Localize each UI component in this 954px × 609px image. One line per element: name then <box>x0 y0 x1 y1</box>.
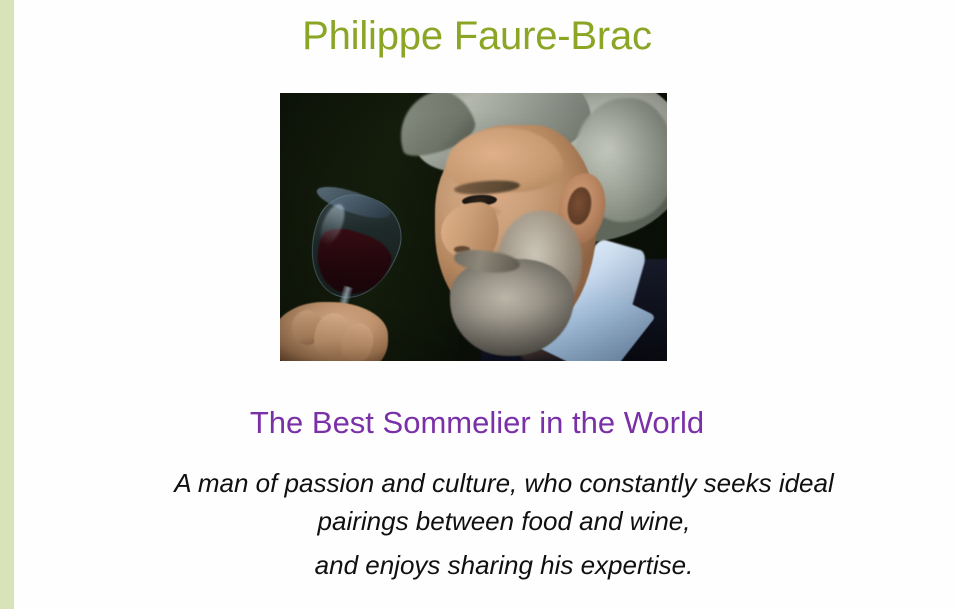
description-line-2: pairings between food and wine, <box>77 502 931 540</box>
slide: Philippe Faure-Brac <box>0 0 954 609</box>
subtitle: The Best Sommelier in the World <box>0 405 954 441</box>
left-accent-band <box>0 0 14 609</box>
portrait-photo-canvas <box>280 93 667 361</box>
portrait-photo <box>280 93 667 361</box>
description-text: A man of passion and culture, who consta… <box>77 464 931 584</box>
page-title: Philippe Faure-Brac <box>0 14 954 59</box>
description-line-1: A man of passion and culture, who consta… <box>77 464 931 502</box>
description-line-3: and enjoys sharing his expertise. <box>77 546 931 584</box>
